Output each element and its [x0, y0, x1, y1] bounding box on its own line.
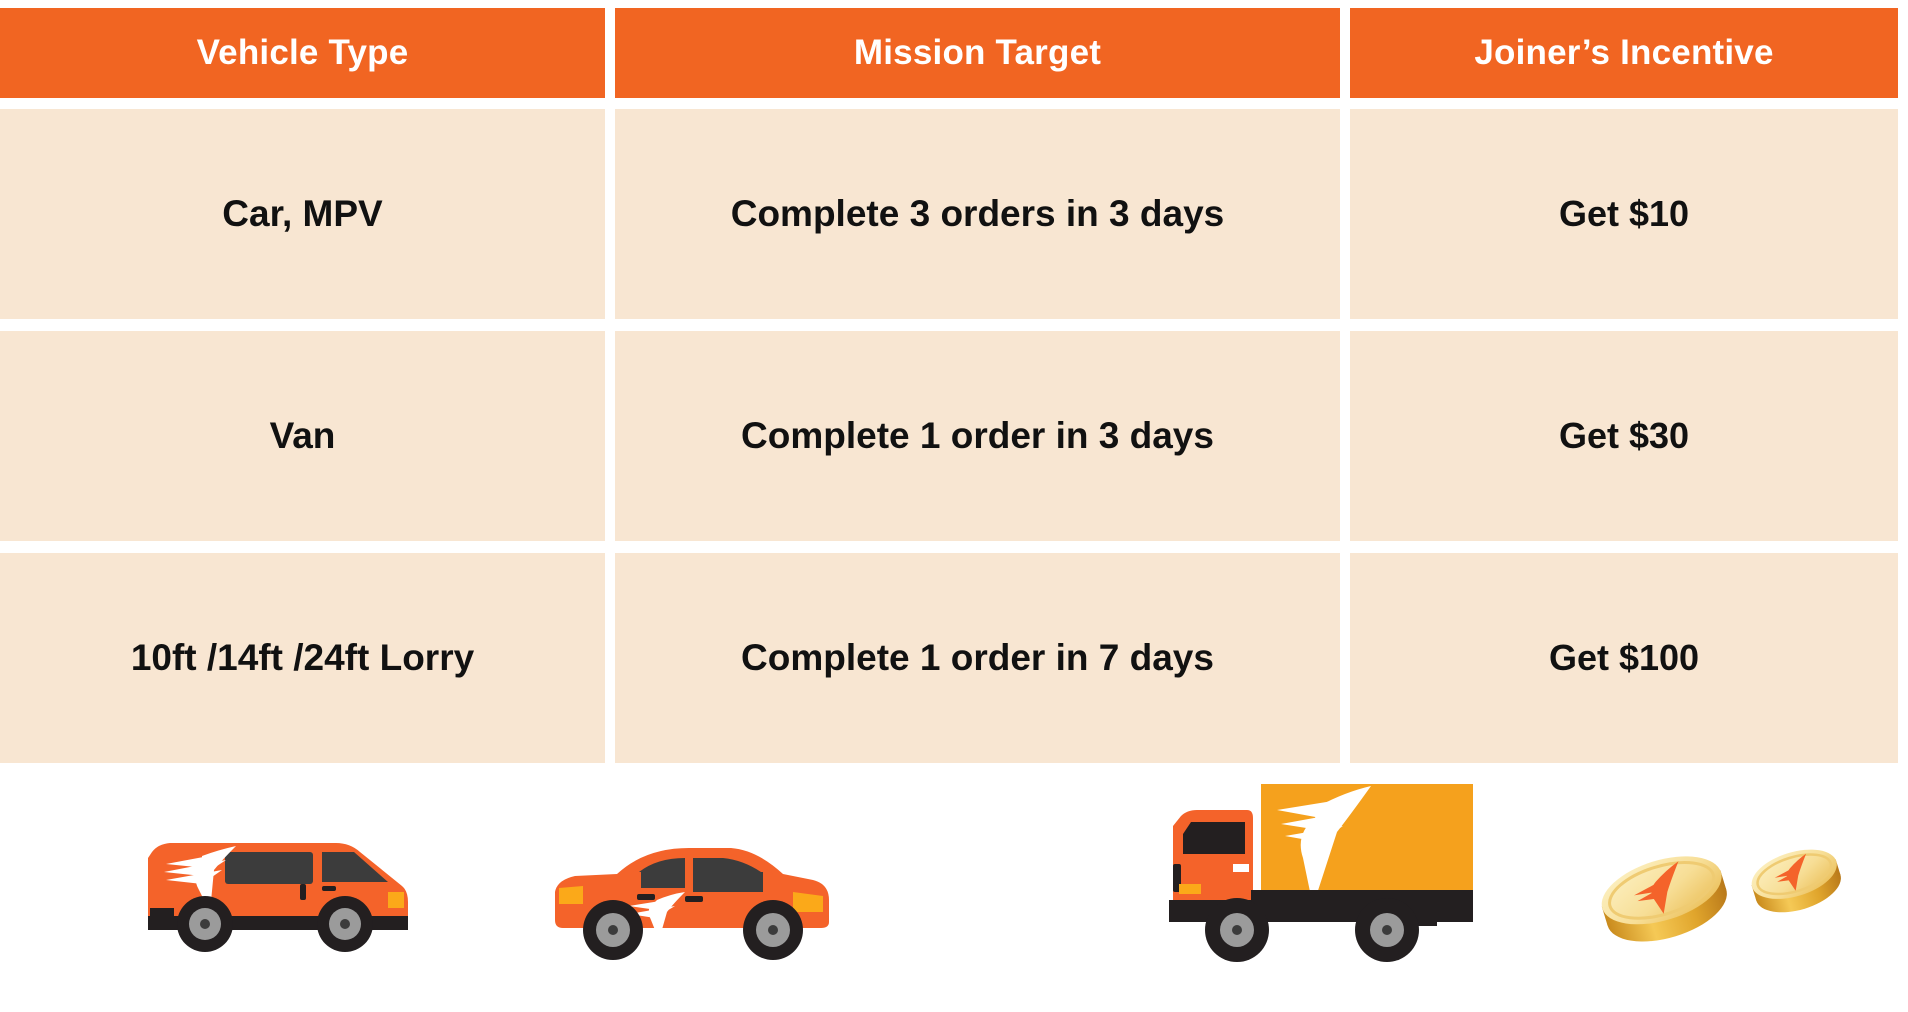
column-header-mission-target: Mission Target: [615, 8, 1340, 98]
cell-mission-target: Complete 3 orders in 3 days: [615, 109, 1340, 319]
cell-divider: [1340, 331, 1350, 541]
cell-divider: [605, 331, 615, 541]
truck-icon: [1155, 768, 1485, 998]
cell-incentive-text: Get $10: [1559, 193, 1689, 235]
car-illustration: [545, 830, 835, 975]
cell-vehicle-type-text: 10ft /14ft /24ft Lorry: [131, 637, 474, 679]
cell-mission-target: Complete 1 order in 7 days: [615, 553, 1340, 763]
cell-mission-target-text: Complete 3 orders in 3 days: [731, 193, 1225, 235]
car-icon: [545, 830, 835, 970]
table-row: Van Complete 1 order in 3 days Get $30: [0, 331, 1898, 541]
cell-vehicle-type-text: Car, MPV: [222, 193, 382, 235]
cell-mission-target: Complete 1 order in 3 days: [615, 331, 1340, 541]
promotion-table-page: Vehicle Type Mission Target Joiner’s Inc…: [0, 0, 1908, 1012]
cell-vehicle-type: Van: [0, 331, 605, 541]
van-illustration: [140, 816, 420, 981]
column-header-vehicle-type-label: Vehicle Type: [197, 33, 409, 73]
column-header-vehicle-type: Vehicle Type: [0, 8, 605, 98]
column-divider-1: [605, 8, 615, 98]
coin-small: [1746, 840, 1847, 921]
incentive-table: Vehicle Type Mission Target Joiner’s Inc…: [0, 8, 1898, 763]
truck-illustration: [1155, 768, 1485, 1003]
coins-icon: [1590, 840, 1860, 960]
cell-divider: [1340, 109, 1350, 319]
column-header-joiners-incentive: Joiner’s Incentive: [1350, 8, 1898, 98]
cell-incentive-text: Get $30: [1559, 415, 1689, 457]
cell-vehicle-type: Car, MPV: [0, 109, 605, 319]
cell-incentive: Get $100: [1350, 553, 1898, 763]
cell-divider: [1340, 553, 1350, 763]
cell-mission-target-text: Complete 1 order in 3 days: [741, 415, 1214, 457]
row-divider: [0, 319, 1898, 331]
cell-vehicle-type: 10ft /14ft /24ft Lorry: [0, 553, 605, 763]
table-row: Car, MPV Complete 3 orders in 3 days Get…: [0, 109, 1898, 319]
cell-incentive: Get $10: [1350, 109, 1898, 319]
row-divider: [0, 541, 1898, 553]
illustration-strip: [0, 768, 1908, 1012]
van-icon: [140, 816, 420, 976]
cell-vehicle-type-text: Van: [270, 415, 336, 457]
cell-mission-target-text: Complete 1 order in 7 days: [741, 637, 1214, 679]
table-row: 10ft /14ft /24ft Lorry Complete 1 order …: [0, 553, 1898, 763]
cell-incentive-text: Get $100: [1549, 637, 1699, 679]
cell-divider: [605, 109, 615, 319]
coins-illustration: [1590, 840, 1860, 965]
column-header-joiners-incentive-label: Joiner’s Incentive: [1474, 33, 1773, 73]
column-divider-2: [1340, 8, 1350, 98]
cell-incentive: Get $30: [1350, 331, 1898, 541]
cell-divider: [605, 553, 615, 763]
table-header-row: Vehicle Type Mission Target Joiner’s Inc…: [0, 8, 1898, 98]
coin-large: [1594, 844, 1735, 955]
column-header-mission-target-label: Mission Target: [854, 33, 1101, 73]
